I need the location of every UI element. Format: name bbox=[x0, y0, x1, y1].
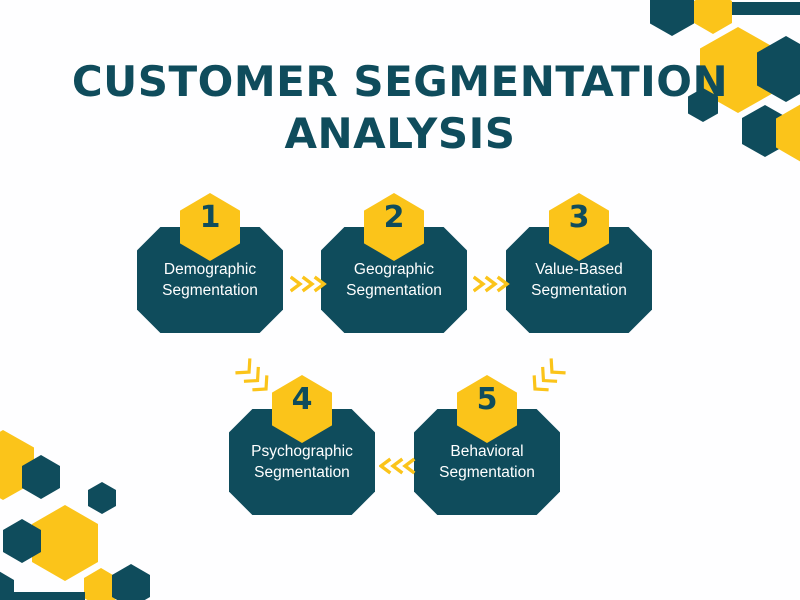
deco-hexagon-yellow-1 bbox=[694, 0, 732, 34]
deco-hexagon-yellow-5 bbox=[32, 505, 98, 581]
step-card-3[interactable]: Value-Based Segmentation 3 bbox=[506, 193, 652, 333]
page-title-line-1: CUSTOMER SEGMENTATION bbox=[60, 56, 740, 108]
deco-hexagon-yellow-3 bbox=[776, 104, 800, 162]
step-card-1-number: 1 bbox=[200, 193, 221, 235]
chevron-left-icon bbox=[379, 457, 421, 475]
step-card-1-label: Demographic Segmentation bbox=[152, 259, 268, 301]
deco-hexagon-teal-8 bbox=[112, 564, 150, 600]
deco-hexagon-teal-4 bbox=[742, 105, 788, 157]
deco-hexagon-yellow-6 bbox=[84, 568, 118, 600]
step-card-5-number: 5 bbox=[477, 375, 498, 417]
connector-2-to-3 bbox=[473, 275, 515, 293]
deco-hexagon-teal-6 bbox=[88, 482, 116, 514]
deco-hexagon-teal-2 bbox=[757, 36, 800, 102]
chevron-down-left-icon bbox=[524, 356, 570, 398]
step-card-5-label: Behavioral Segmentation bbox=[429, 441, 545, 483]
step-card-2-label-line-2: Segmentation bbox=[346, 280, 442, 301]
step-card-3-label-line-1: Value-Based bbox=[531, 259, 627, 280]
chevron-right-icon bbox=[290, 275, 332, 293]
step-card-3-number: 3 bbox=[569, 193, 590, 235]
connector-5-to-4 bbox=[379, 457, 421, 475]
step-card-4-label-line-1: Psychographic bbox=[251, 441, 353, 462]
chevron-right-icon bbox=[473, 275, 515, 293]
step-card-1-label-line-1: Demographic bbox=[162, 259, 258, 280]
step-card-5-label-line-2: Segmentation bbox=[439, 462, 535, 483]
deco-hexagon-teal-7 bbox=[3, 519, 41, 563]
chevron-down-right-icon bbox=[231, 356, 277, 398]
step-card-2[interactable]: Geographic Segmentation 2 bbox=[321, 193, 467, 333]
deco-hexagon-teal-5 bbox=[22, 455, 60, 499]
step-card-5-label-line-1: Behavioral bbox=[439, 441, 535, 462]
deco-bar-bottom-left bbox=[7, 592, 85, 600]
deco-hexagon-teal-1 bbox=[650, 0, 694, 36]
connector-3-to-5 bbox=[524, 356, 570, 398]
page-title-line-2: ANALYSIS bbox=[60, 108, 740, 160]
step-card-2-label-line-1: Geographic bbox=[346, 259, 442, 280]
step-card-2-label: Geographic Segmentation bbox=[336, 259, 452, 301]
step-card-4-label-line-2: Segmentation bbox=[251, 462, 353, 483]
deco-bar-top-right bbox=[723, 2, 800, 15]
infographic-canvas: CUSTOMER SEGMENTATION ANALYSIS bbox=[0, 0, 800, 600]
step-card-1-label-line-2: Segmentation bbox=[162, 280, 258, 301]
connector-4-marker bbox=[231, 356, 277, 398]
step-card-2-number: 2 bbox=[384, 193, 405, 235]
step-card-4-number: 4 bbox=[292, 375, 313, 417]
connector-1-to-2 bbox=[290, 275, 332, 293]
deco-hexagon-teal-9 bbox=[0, 570, 14, 600]
step-card-3-label: Value-Based Segmentation bbox=[521, 259, 637, 301]
step-card-3-label-line-2: Segmentation bbox=[531, 280, 627, 301]
step-card-4-label: Psychographic Segmentation bbox=[241, 441, 363, 483]
deco-hexagon-yellow-4 bbox=[0, 430, 34, 500]
step-card-1[interactable]: Demographic Segmentation 1 bbox=[137, 193, 283, 333]
page-title: CUSTOMER SEGMENTATION ANALYSIS bbox=[60, 56, 740, 160]
